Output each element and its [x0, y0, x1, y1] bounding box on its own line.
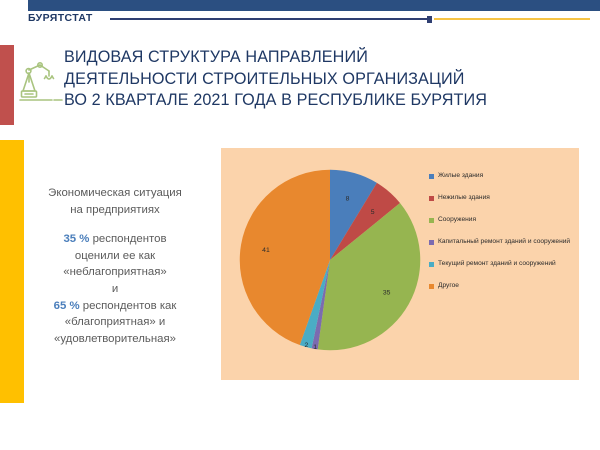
- stat-2-value: 65 %: [54, 300, 80, 312]
- stat-2-line2: «благоприятная» и: [16, 314, 214, 331]
- legend-swatch-icon: [429, 284, 434, 289]
- brand-label: БУРЯТСТАТ: [28, 11, 93, 25]
- pie-slice-label: 2: [304, 342, 308, 349]
- slide-root: БУРЯТСТАТ ВИДОВАЯ СТРУКТУРА НАПРАВЛЕНИЙ …: [0, 0, 600, 450]
- legend-label: Нежилые здания: [438, 194, 490, 203]
- legend-label: Другое: [438, 282, 459, 291]
- legend-label: Текущий ремонт зданий и сооружений: [438, 260, 556, 269]
- stat-1-value: 35 %: [63, 233, 89, 245]
- summary-heading-line2: на предприятиях: [16, 202, 214, 219]
- stat-2-line3: «удовлетворительная»: [16, 331, 214, 348]
- header-top-bar: [28, 0, 600, 11]
- divider-left-segment: [110, 18, 427, 20]
- conjunction: и: [16, 281, 214, 298]
- divider-right-segment: [434, 18, 590, 20]
- stat-1-label: респондентов: [89, 233, 166, 245]
- pie-slice-label: 1: [313, 344, 317, 351]
- legend-item: Текущий ремонт зданий и сооружений: [429, 260, 575, 269]
- legend-label: Жилые здания: [438, 172, 483, 181]
- chart-panel: 85351241 Жилые зданияНежилые зданияСоору…: [221, 148, 579, 380]
- page-title: ВИДОВАЯ СТРУКТУРА НАПРАВЛЕНИЙ ДЕЯТЕЛЬНОС…: [64, 47, 594, 112]
- accent-block-red: [0, 45, 14, 125]
- legend-item: Другое: [429, 282, 575, 291]
- legend-item: Жилые здания: [429, 172, 575, 181]
- legend-label: Сооружения: [438, 216, 476, 225]
- crane-icon: [18, 58, 68, 108]
- legend-swatch-icon: [429, 196, 434, 201]
- legend-swatch-icon: [429, 174, 434, 179]
- header-divider: [110, 16, 590, 22]
- summary-heading-line1: Экономическая ситуация: [16, 185, 214, 202]
- stat-2-line1: 65 % респондентов как: [16, 298, 214, 315]
- chart-legend: Жилые зданияНежилые зданияСооруженияКапи…: [429, 172, 575, 304]
- pie-slice-label: 8: [346, 195, 350, 202]
- stat-1-line2: оценили ее как: [16, 248, 214, 265]
- pie-svg: 85351241: [235, 165, 425, 355]
- summary-text-block: Экономическая ситуация на предприятиях 3…: [16, 185, 214, 347]
- divider-marker: [427, 16, 432, 23]
- legend-item: Капитальный ремонт зданий и сооружений: [429, 238, 575, 247]
- legend-swatch-icon: [429, 240, 434, 245]
- legend-item: Нежилые здания: [429, 194, 575, 203]
- legend-swatch-icon: [429, 218, 434, 223]
- legend-item: Сооружения: [429, 216, 575, 225]
- pie-slice-label: 35: [383, 290, 391, 297]
- legend-swatch-icon: [429, 262, 434, 267]
- pie-slice-label: 41: [262, 247, 270, 254]
- stat-2-label: респондентов как: [80, 300, 177, 312]
- legend-label: Капитальный ремонт зданий и сооружений: [438, 238, 570, 247]
- pie-chart: 85351241: [235, 165, 425, 355]
- stat-1-line3: «неблагоприятная»: [16, 264, 214, 281]
- stat-1-line1: 35 % респондентов: [16, 231, 214, 248]
- pie-slice-label: 5: [371, 209, 375, 216]
